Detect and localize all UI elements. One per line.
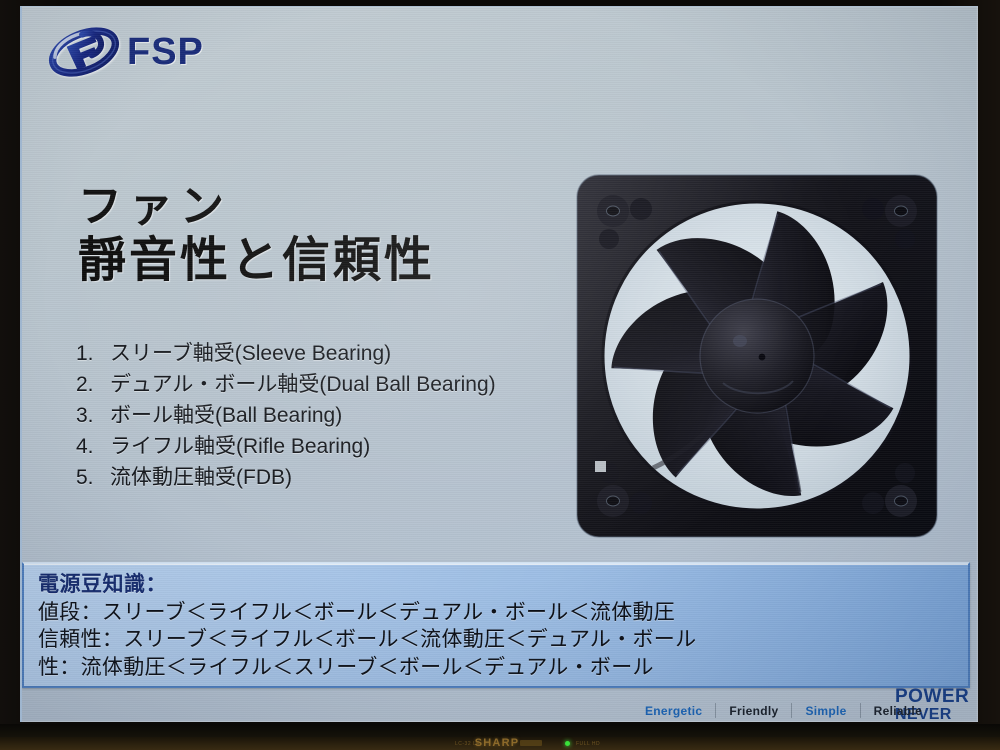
lcd-screen: FSP ファン 靜音性と信頼性 1. スリーブ軸受(Sleeve Bearing… [20, 6, 978, 722]
footer-item-simple: Simple [792, 704, 859, 718]
list-item: 3. ボール軸受(Ball Bearing) [72, 400, 496, 431]
footer-attributes: Energetic Friendly Simple Reliable [632, 703, 935, 718]
list-item: 5. 流体動圧軸受(FDB) [72, 462, 496, 493]
slide-title: ファン 靜音性と信頼性 [78, 182, 435, 290]
title-line-1: ファン [78, 182, 435, 231]
monitor-brand-logo: SHARP [475, 737, 520, 749]
list-item-number: 1. [72, 338, 110, 369]
list-item-label: スリーブ軸受(Sleeve Bearing) [110, 338, 391, 369]
monitor-right-marking: FULL HD [576, 741, 600, 747]
title-line-2: 靜音性と信頼性 [78, 233, 435, 290]
list-item-label: ボール軸受(Ball Bearing) [110, 400, 342, 431]
bearing-list: 1. スリーブ軸受(Sleeve Bearing) 2. デュアル・ボール軸受(… [72, 338, 496, 493]
list-item-label: デュアル・ボール軸受(Dual Ball Bearing) [110, 369, 496, 400]
list-item-number: 5. [72, 462, 110, 493]
list-item-number: 3. [72, 400, 110, 431]
list-item-label: 流体動圧軸受(FDB) [110, 462, 292, 493]
tip-panel-line: 信頼性：スリーブ＜ライフル＜ボール＜流体動圧＜デュアル・ボール [38, 626, 968, 654]
fan-photo [573, 169, 941, 543]
monitor: FSP ファン 靜音性と信頼性 1. スリーブ軸受(Sleeve Bearing… [0, 0, 1000, 750]
list-item: 2. デュアル・ボール軸受(Dual Ball Bearing) [72, 369, 496, 400]
tip-panel: 電源豆知識： 値段：スリーブ＜ライフル＜ボール＜デュアル・ボール＜流体動圧 信頼… [22, 562, 970, 688]
tip-panel-heading: 電源豆知識： [38, 571, 968, 599]
list-item-number: 2. [72, 369, 110, 400]
list-item-label: ライフル軸受(Rifle Bearing) [110, 431, 370, 462]
footer-item-friendly: Friendly [716, 704, 791, 718]
list-item: 4. ライフル軸受(Rifle Bearing) [72, 431, 496, 462]
tip-panel-line: 性：流体動圧＜ライフル＜スリーブ＜ボール＜デュアル・ボール [38, 654, 968, 682]
list-item-number: 4. [72, 431, 110, 462]
footer-item-energetic: Energetic [632, 704, 715, 718]
fsp-logo: FSP [47, 23, 204, 81]
fsp-logo-text: FSP [127, 33, 204, 71]
power-led-icon [565, 741, 570, 746]
fsp-swoosh-logo-icon [47, 23, 121, 81]
list-item: 1. スリーブ軸受(Sleeve Bearing) [72, 338, 496, 369]
monitor-badge [520, 740, 542, 746]
footer-item-reliable: Reliable [861, 704, 935, 718]
tip-panel-line: 値段：スリーブ＜ライフル＜ボール＜デュアル・ボール＜流体動圧 [38, 599, 968, 627]
